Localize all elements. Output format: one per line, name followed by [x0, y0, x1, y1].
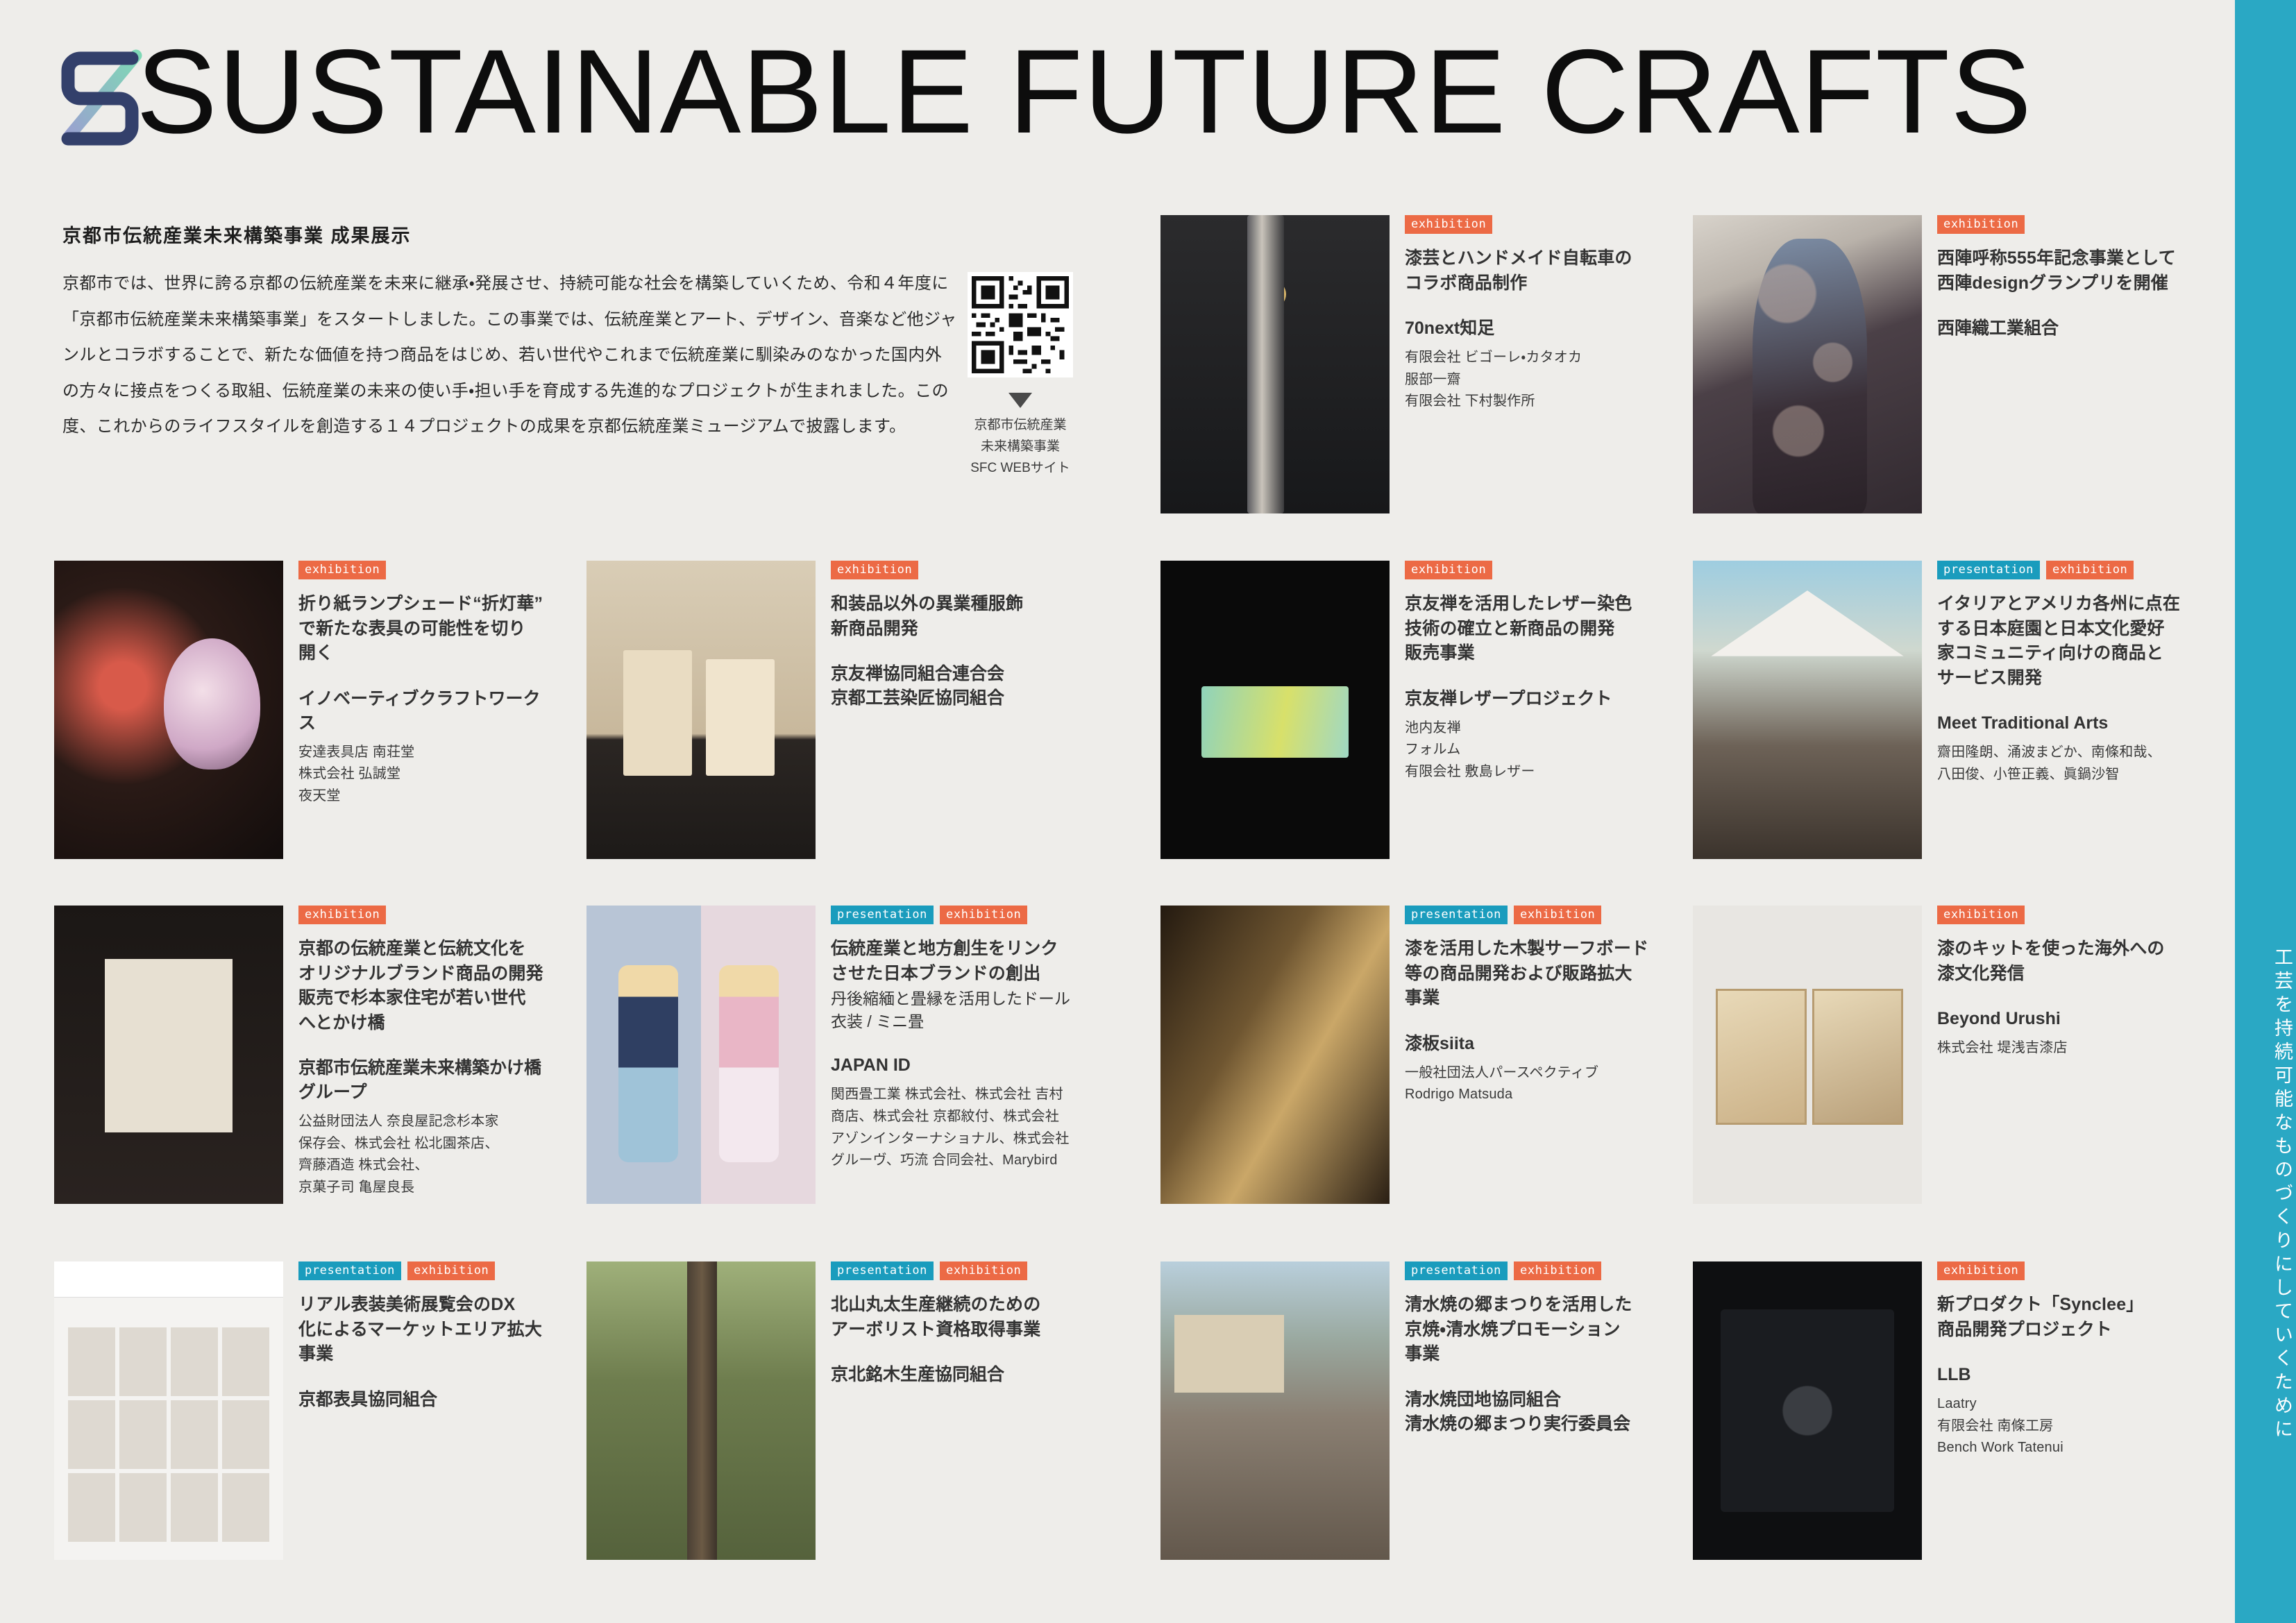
badge-presentation: presentation [831, 1261, 934, 1280]
project-title: イタリアとアメリカ各州に点在する日本庭園と日本文化愛好家コミュニティ向けの商品と… [1937, 592, 2195, 690]
badge-exhibition: exhibition [940, 906, 1027, 924]
project-title: 京友禅を活用したレザー染色技術の確立と新商品の開発販売事業 [1405, 592, 1663, 666]
badge-group: presentationexhibition [831, 1261, 1089, 1280]
rail-gutter [2203, 0, 2235, 1623]
project-card-body: presentationexhibitionイタリアとアメリカ各州に点在する日本… [1937, 561, 2195, 785]
qr-caption-line-2: 未来構築事業 [951, 436, 1090, 458]
project-organization: 京都市伝統産業未来構築かけ橋グループ [298, 1056, 557, 1105]
project-card-body: exhibition京友禅を活用したレザー染色技術の確立と新商品の開発販売事業京… [1405, 561, 1663, 783]
dyed-leather-samples-photo [1160, 561, 1390, 859]
qr-code-image[interactable] [968, 272, 1073, 377]
project-organization: 清水焼団地協同組合清水焼の郷まつり実行委員会 [1405, 1388, 1663, 1436]
badge-presentation: presentation [1405, 906, 1508, 924]
qr-caption-line-1: 京都市伝統産業 [951, 415, 1090, 436]
project-members: 齋田隆朗、涌波まどか、南條和哉、八田俊、小笹正義、眞鍋沙智 [1937, 742, 2195, 785]
badge-exhibition: exhibition [407, 1261, 495, 1280]
badge-group: exhibition [298, 906, 557, 924]
project-members: 関西畳工業 株式会社、株式会社 吉村商店、株式会社 京都紋付、株式会社アゾンイン… [831, 1084, 1089, 1171]
qr-caption-line-3: SFC WEBサイト [951, 458, 1090, 479]
project-organization: 漆板siita [1405, 1032, 1663, 1056]
badge-group: exhibition [1937, 906, 2195, 924]
project-card-body: exhibition折り紙ランプシェード“折灯華”で新たな表具の可能性を切り開く… [298, 561, 557, 807]
project-title: リアル表装美術展覧会のDX化によるマーケットエリア拡大事業 [298, 1293, 557, 1367]
canvas-tote-bags-photo [586, 561, 816, 859]
badge-exhibition: exhibition [1405, 215, 1492, 234]
online-gallery-website-photo [54, 1261, 283, 1560]
sustainable-future-crafts-s-logo [54, 43, 146, 147]
intro-block: 京都市伝統産業未来構築事業 成果展示 京都市では、世界に誇る京都の伝統産業を未来… [62, 221, 958, 445]
tree-climbing-arborists-photo [586, 1261, 816, 1560]
project-card-body: exhibition漆のキットを使った海外への漆文化発信Beyond Urush… [1937, 906, 2195, 1060]
qr-block[interactable]: 京都市伝統産業 未来構築事業 SFC WEBサイト [951, 272, 1090, 479]
project-title: 漆のキットを使った海外への漆文化発信 [1937, 937, 2195, 986]
project-card-body: presentationexhibition漆を活用した木製サーフボード等の商品… [1405, 906, 1663, 1106]
turntable-product-photo [1693, 1261, 1922, 1560]
badge-presentation: presentation [1405, 1261, 1508, 1280]
project-card-body: exhibition新プロダクト「Synclee」商品開発プロジェクトLLBLa… [1937, 1261, 2195, 1459]
intro-body: 京都市では、世界に誇る京都の伝統産業を未来に継承・発展させ、持続可能な社会を構築… [62, 266, 958, 445]
project-subtitle: 丹後縮緬と畳縁を活用したドール衣装 / ミニ畳 [831, 987, 1089, 1033]
page-title: SUSTAINABLE FUTURE CRAFTS [136, 32, 2032, 151]
badge-group: exhibition [1937, 215, 2195, 234]
project-card-body: exhibition漆芸とハンドメイド自転車のコラボ商品制作70next知足有限… [1405, 215, 1663, 413]
badge-group: presentationexhibition [1405, 1261, 1663, 1280]
project-title: 漆芸とハンドメイド自転車のコラボ商品制作 [1405, 246, 1663, 296]
project-card-body: presentationexhibition清水焼の郷まつりを活用した京焼・清水… [1405, 1261, 1663, 1436]
project-organization: Meet Traditional Arts [1937, 711, 2195, 736]
project-organization: 京北銘木生産協同組合 [831, 1363, 1089, 1387]
masthead-header: SUSTAINABLE FUTURE CRAFTS [54, 36, 2185, 147]
project-members: 池内友禅フォルム有限会社 敷島レザー [1405, 717, 1663, 783]
project-organization: JAPAN ID [831, 1053, 1089, 1078]
project-members: 一般社団法人パースペクティブRodrigo Matsuda [1405, 1062, 1663, 1106]
machiya-noren-photo [54, 906, 283, 1204]
badge-group: exhibition [1405, 215, 1663, 234]
badge-exhibition: exhibition [1514, 1261, 1601, 1280]
badge-exhibition: exhibition [940, 1261, 1027, 1280]
badge-exhibition: exhibition [2046, 561, 2134, 579]
nishijin-textile-coat-photo [1693, 215, 1922, 513]
badge-group: exhibition [831, 561, 1089, 579]
project-card-body: presentationexhibition北山丸太生産継続のためのアーボリスト… [831, 1261, 1089, 1387]
badge-group: presentationexhibition [1405, 906, 1663, 924]
badge-exhibition: exhibition [298, 906, 386, 924]
badge-group: presentationexhibition [831, 906, 1089, 924]
project-card-body: exhibition京都の伝統産業と伝統文化をオリジナルブランド商品の開発販売で… [298, 906, 557, 1198]
project-card-body: presentationexhibition伝統産業と地方創生をリンクさせた日本… [831, 906, 1089, 1172]
badge-group: presentationexhibition [298, 1261, 557, 1280]
project-organization: 西陣織工業組合 [1937, 316, 2195, 341]
project-title: 清水焼の郷まつりを活用した京焼・清水焼プロモーション事業 [1405, 1293, 1663, 1367]
rail-vertical-tagline: 工芸を持続可能なものづくりにしていくために [2235, 947, 2296, 1443]
badge-exhibition: exhibition [1937, 906, 2025, 924]
project-title: 新プロダクト「Synclee」商品開発プロジェクト [1937, 1293, 2195, 1342]
project-title: 折り紙ランプシェード“折灯華”で新たな表具の可能性を切り開く [298, 592, 557, 666]
origami-lampshade-photo [54, 561, 283, 859]
project-organization: 京友禅協同組合連合会京都工芸染匠協同組合 [831, 662, 1089, 711]
project-title: 和装品以外の異業種服飾新商品開発 [831, 592, 1089, 641]
badge-exhibition: exhibition [1937, 215, 2025, 234]
project-title: 北山丸太生産継続のためのアーボリスト資格取得事業 [831, 1293, 1089, 1342]
project-members: Laatry有限会社 南條工房Bench Work Tatenui [1937, 1393, 2195, 1459]
badge-group: exhibition [298, 561, 557, 579]
outdoor-tent-presentation-photo [1693, 561, 1922, 859]
badge-exhibition: exhibition [831, 561, 918, 579]
project-members: 株式会社 堤浅吉漆店 [1937, 1037, 2195, 1060]
project-members: 安達表具店 南荘堂株式会社 弘誠堂夜天堂 [298, 742, 557, 808]
badge-group: presentationexhibition [1937, 561, 2195, 579]
project-organization: LLB [1937, 1363, 2195, 1387]
badge-presentation: presentation [831, 906, 934, 924]
badge-group: exhibition [1937, 1261, 2195, 1280]
handmade-bicycle-frame-photo [1160, 215, 1390, 513]
project-organization: 70next知足 [1405, 316, 1663, 341]
project-members: 有限会社 ビゴーレ・カタオカ服部一齋有限会社 下村製作所 [1405, 347, 1663, 413]
pottery-festival-street-photo [1160, 1261, 1390, 1560]
project-card-body: presentationexhibitionリアル表装美術展覧会のDX化によるマ… [298, 1261, 557, 1412]
wooden-surfboard-photo [1160, 906, 1390, 1204]
two-dolls-in-kimono-photo [586, 906, 816, 1204]
project-organization: 京都表具協同組合 [298, 1388, 557, 1412]
poster-root: 工芸を持続可能なものづくりにしていくために SUSTAINABLE FUTURE… [0, 0, 2296, 1623]
urushi-kit-wooden-boxes-photo [1693, 906, 1922, 1204]
project-organization: 京友禅レザープロジェクト [1405, 687, 1663, 711]
badge-exhibition: exhibition [1514, 906, 1601, 924]
project-organization: イノベーティブクラフトワークス [298, 687, 557, 736]
project-organization: Beyond Urushi [1937, 1007, 2195, 1031]
project-members: 公益財団法人 奈良屋記念杉本家保存会、株式会社 松北園茶店、齊藤酒造 株式会社、… [298, 1111, 557, 1198]
project-card-body: exhibition西陣呼称555年記念事業として西陣designグランプリを開… [1937, 215, 2195, 341]
project-title: 京都の伝統産業と伝統文化をオリジナルブランド商品の開発販売で杉本家住宅が若い世代… [298, 937, 557, 1035]
badge-presentation: presentation [1937, 561, 2040, 579]
project-card-body: exhibition和装品以外の異業種服飾新商品開発京友禅協同組合連合会京都工芸… [831, 561, 1089, 711]
project-title: 西陣呼称555年記念事業として西陣designグランプリを開催 [1937, 246, 2195, 296]
badge-exhibition: exhibition [1405, 561, 1492, 579]
badge-presentation: presentation [298, 1261, 401, 1280]
project-title: 漆を活用した木製サーフボード等の商品開発および販路拡大事業 [1405, 937, 1663, 1011]
project-title: 伝統産業と地方創生をリンクさせた日本ブランドの創出 [831, 937, 1089, 986]
intro-title: 京都市伝統産業未来構築事業 成果展示 [62, 221, 958, 248]
qr-pointer-triangle-icon [1008, 393, 1032, 408]
badge-exhibition: exhibition [1937, 1261, 2025, 1280]
badge-group: exhibition [1405, 561, 1663, 579]
badge-exhibition: exhibition [298, 561, 386, 579]
